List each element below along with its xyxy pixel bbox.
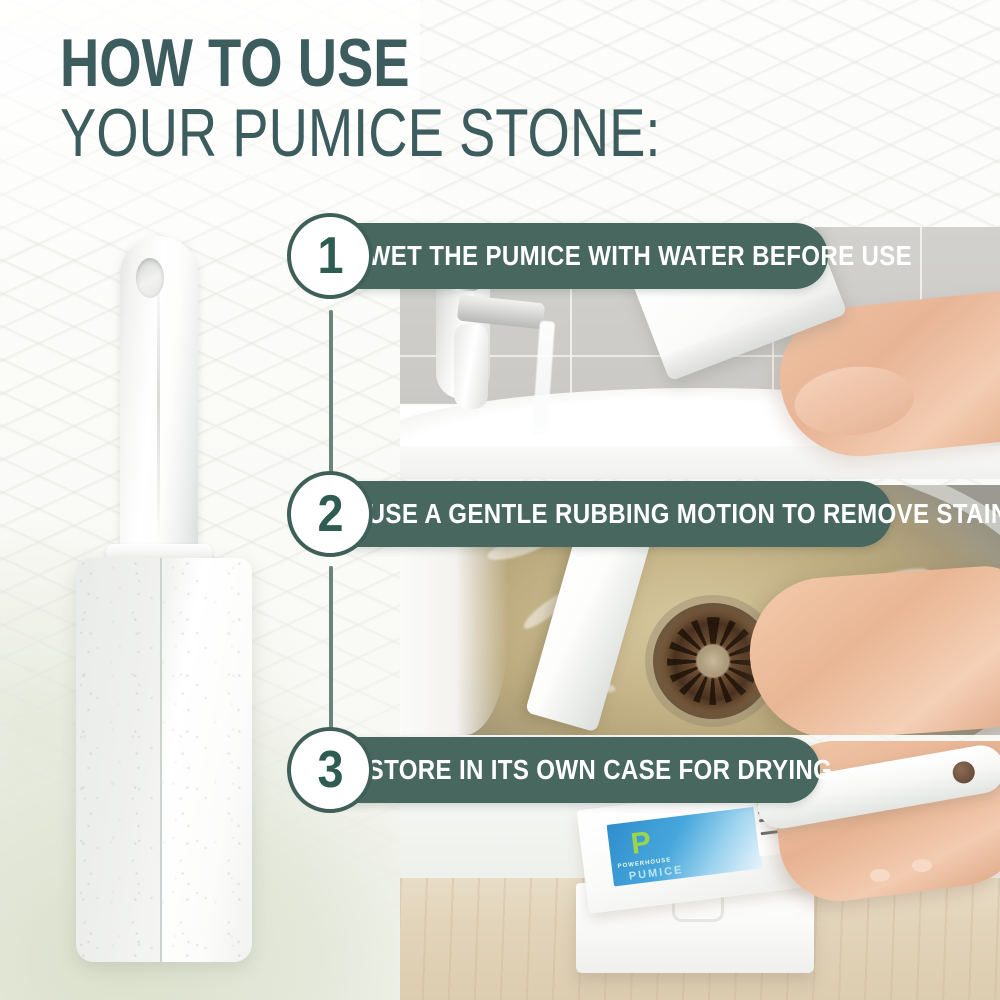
step-2-number: 2 [317, 488, 343, 540]
step-1-label: WET THE PUMICE WITH WATER BEFORE USE [292, 240, 912, 272]
step-connector-1-2 [329, 310, 333, 492]
title-line-2: YOUR PUMICE STONE: [60, 104, 572, 162]
product-label-card: P POWERHOUSE PUMICE [607, 807, 763, 887]
product-stone-edge [160, 558, 162, 962]
step-1-badge[interactable]: 1 [287, 213, 373, 299]
step-connector-2-3 [329, 566, 333, 746]
product-pumice-stone-image [58, 236, 268, 962]
step-3-label: STORE IN ITS OWN CASE FOR DRYING [292, 754, 832, 786]
step-3-number: 3 [317, 744, 343, 796]
page-title: HOW TO USE YOUR PUMICE STONE: [60, 34, 700, 163]
product-stone-block [76, 558, 252, 962]
hand-scrubbing [745, 563, 1000, 735]
drain-slots [667, 617, 759, 705]
fingernail [870, 869, 890, 882]
step-2-label: USE A GENTLE RUBBING MOTION TO REMOVE ST… [292, 498, 1000, 530]
title-line-1: HOW TO USE [60, 34, 572, 92]
product-stone-texture [76, 558, 252, 962]
brand-logo-icon: P [629, 828, 653, 860]
fingernail [912, 859, 932, 872]
water-splash [520, 423, 592, 445]
step-3-badge[interactable]: 3 [287, 727, 373, 813]
step-2-badge[interactable]: 2 [287, 471, 373, 557]
step-2-pill[interactable]: USE A GENTLE RUBBING MOTION TO REMOVE ST… [292, 481, 892, 547]
tool-hang-hole [951, 760, 976, 785]
faucet-lever [454, 323, 488, 409]
step-1-number: 1 [317, 230, 343, 282]
infographic-canvas: HOW TO USE YOUR PUMICE STONE: [0, 0, 1000, 1000]
product-hang-hole [136, 258, 164, 298]
